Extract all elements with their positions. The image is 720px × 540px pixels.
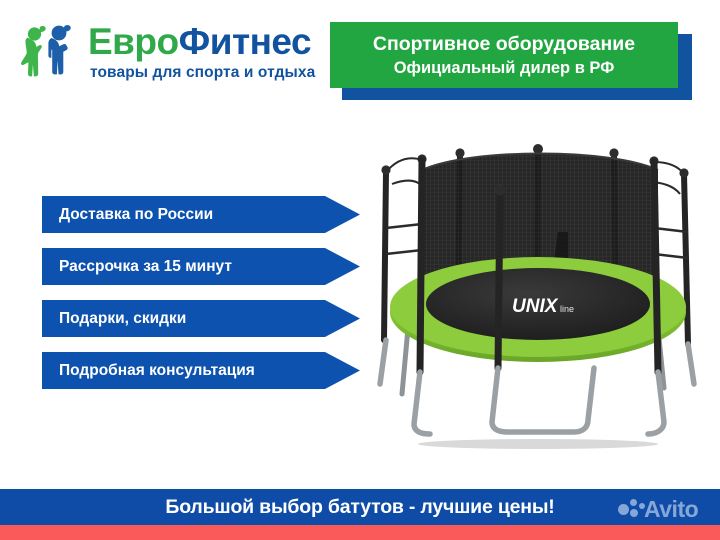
brand-wordmark: ЕвроФитнес <box>88 20 328 64</box>
header-banner: Спортивное оборудование Официальный диле… <box>330 22 692 100</box>
banner-page: ЕвроФитнес товары для спорта и отдыха Сп… <box>0 0 720 540</box>
svg-text:line: line <box>560 304 574 314</box>
feature-item-delivery[interactable]: Доставка по России <box>42 196 360 233</box>
brand-logo[interactable]: ЕвроФитнес товары для спорта и отдыха <box>18 20 328 88</box>
header: ЕвроФитнес товары для спорта и отдыха Сп… <box>0 0 720 110</box>
feature-item-gifts[interactable]: Подарки, скидки <box>42 300 360 337</box>
feature-item-installment[interactable]: Рассрочка за 15 минут <box>42 248 360 285</box>
header-banner-title: Спортивное оборудование <box>373 32 635 57</box>
avito-dots-icon <box>618 497 644 521</box>
brand-tagline: товары для спорта и отдыха <box>90 64 340 82</box>
header-banner-subtitle: Официальный дилер в РФ <box>394 57 615 79</box>
header-banner-body: Спортивное оборудование Официальный диле… <box>330 22 678 88</box>
footer-slogan: Большой выбор батутов - лучшие цены! <box>165 496 554 519</box>
two-people-fitness-icon <box>18 22 84 80</box>
brand-wordmark-part-2: Фитнес <box>179 21 311 62</box>
avito-wordmark: Avito <box>644 497 698 521</box>
feature-item-consultation[interactable]: Подробная консультация <box>42 352 360 389</box>
product-image-trampoline[interactable]: UNIX line <box>362 132 714 462</box>
avito-watermark: Avito <box>618 494 716 524</box>
footer-stripe <box>0 525 720 540</box>
brand-wordmark-part-1: Евро <box>88 21 179 62</box>
product-brand-main: UNIX <box>512 296 559 317</box>
footer-banner: Большой выбор батутов - лучшие цены! <box>0 489 720 525</box>
feature-list: Доставка по России Рассрочка за 15 минут… <box>42 196 362 406</box>
